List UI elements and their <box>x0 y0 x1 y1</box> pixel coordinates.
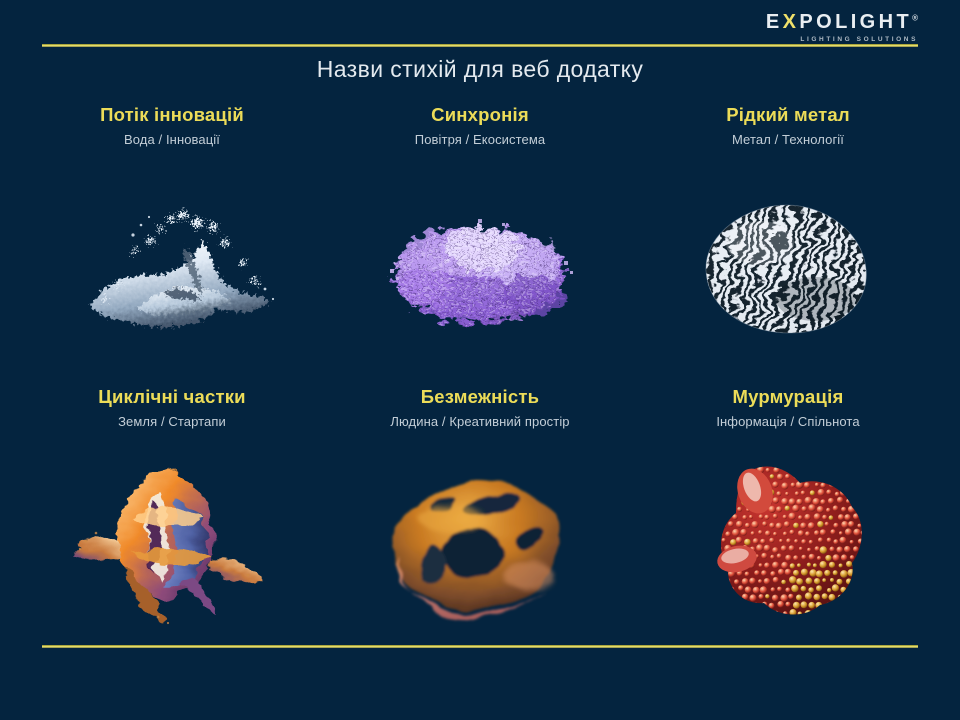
card-subtitle: Метал / Технології <box>732 132 844 147</box>
card-artwork-wrap <box>326 429 634 646</box>
logo-tagline: LIGHTING SOLUTIONS <box>766 37 918 44</box>
card-title: Циклічні частки <box>98 386 245 407</box>
card-artwork-wrap <box>326 147 634 386</box>
bottom-divider <box>42 645 918 648</box>
icy-splash-render <box>75 189 285 349</box>
presentation-slide: EXPOLIGHT® LIGHTING SOLUTIONS Назви стих… <box>0 0 960 720</box>
element-card-grid: Потік інновацій Вода / Інновації <box>18 104 942 646</box>
card-artwork-wrap <box>634 147 942 386</box>
card-artwork-wrap <box>634 429 942 646</box>
red-particle-swarm-render <box>692 455 877 625</box>
chrome-liquid-metal-render <box>696 199 876 339</box>
registered-trademark-icon: ® <box>912 13 918 22</box>
card-subtitle: Земля / Стартапи <box>118 414 226 429</box>
logo-text-before-x: E <box>766 11 783 33</box>
card-subtitle: Людина / Креативний простір <box>390 414 569 429</box>
element-card[interactable]: Потік інновацій Вода / Інновації <box>18 104 326 386</box>
orange-violet-ribbon-render <box>62 457 267 627</box>
element-card[interactable]: Циклічні частки Земля / Стартапи <box>18 386 326 646</box>
element-card[interactable]: Мурмурація Інформація / Спільнота <box>634 386 942 646</box>
top-divider <box>42 44 918 47</box>
card-subtitle: Повітря / Екосистема <box>415 132 545 147</box>
expolight-logo: EXPOLIGHT® LIGHTING SOLUTIONS <box>766 12 918 44</box>
logo-accent-x: X <box>783 11 800 33</box>
logo-text-after-x: POLIGHT <box>799 11 912 33</box>
purple-voxel-cloud-render <box>382 203 578 343</box>
card-subtitle: Інформація / Спільнота <box>716 414 859 429</box>
card-title: Синхронія <box>431 104 529 125</box>
logo-wordmark: EXPOLIGHT® <box>766 12 918 32</box>
element-card[interactable]: Безмежність Людина / Креативний простір <box>326 386 634 646</box>
card-artwork-wrap <box>18 429 326 646</box>
card-title: Потік інновацій <box>100 104 244 125</box>
card-title: Безмежність <box>421 386 539 407</box>
card-artwork-wrap <box>18 147 326 386</box>
card-title: Мурмурація <box>733 386 844 407</box>
element-card[interactable]: Синхронія Повітря / Екосистема <box>326 104 634 386</box>
amber-organic-torus-render <box>381 468 571 623</box>
card-title: Рідкий метал <box>726 104 850 125</box>
card-subtitle: Вода / Інновації <box>124 132 220 147</box>
page-title: Назви стихій для веб додатку <box>0 56 960 83</box>
element-card[interactable]: Рідкий метал Метал / Технології <box>634 104 942 386</box>
